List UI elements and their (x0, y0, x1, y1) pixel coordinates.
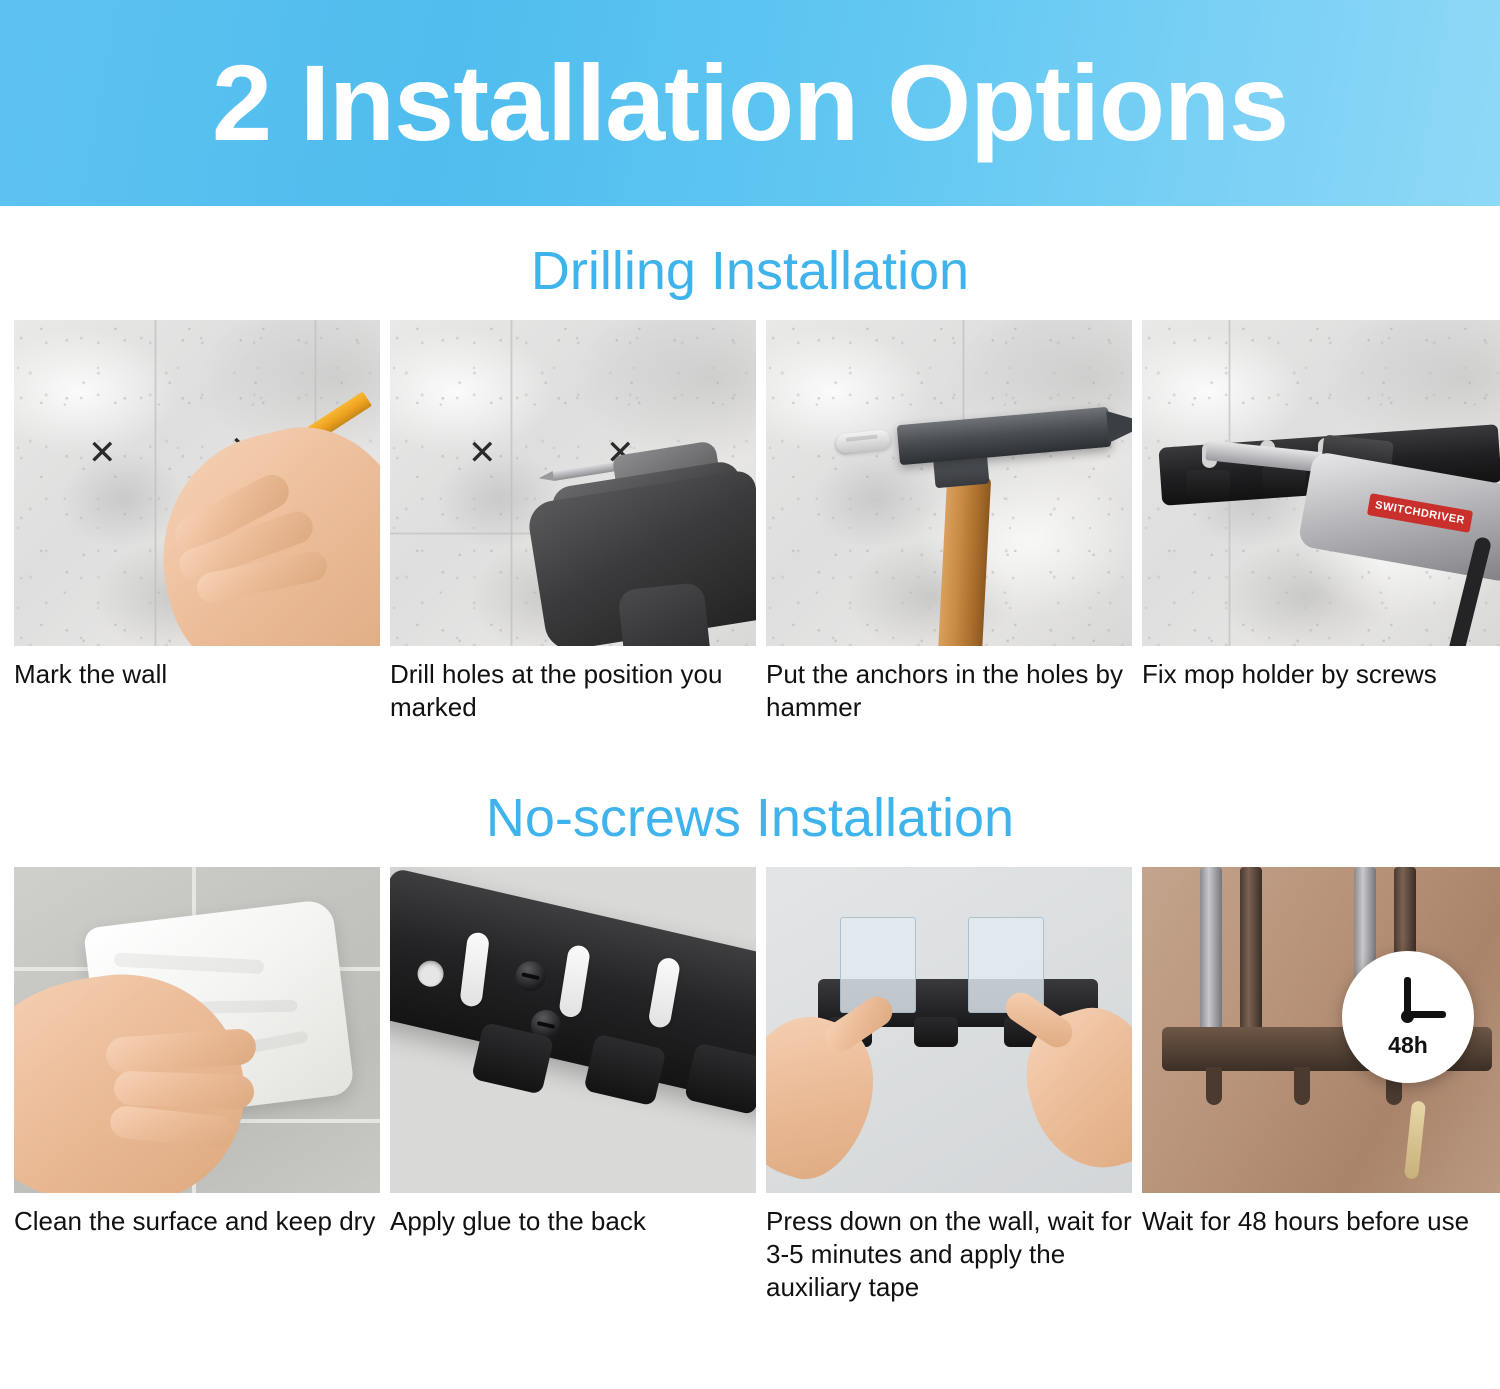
step-image-mark-the-wall: ✕ ✕ (14, 320, 380, 646)
step-card-mark-the-wall: ✕ ✕ Mark the wall (14, 320, 380, 725)
step-image-put-anchors (766, 320, 1132, 646)
step-card-clean-surface: Clean the surface and keep dry (14, 867, 380, 1305)
holder-clip (1186, 470, 1230, 500)
wall-seam (510, 320, 513, 646)
step-card-put-anchors: Put the anchors in the holes by hammer (766, 320, 1132, 725)
mop-holder-back (390, 867, 756, 1112)
cloth-fold (114, 952, 265, 974)
mop-handle (1240, 867, 1262, 1033)
holder-hook (1206, 1067, 1222, 1105)
mark-x-left: ✕ (88, 436, 117, 470)
step-caption-press-down: Press down on the wall, wait for 3-5 min… (766, 1193, 1132, 1305)
glue-strip (459, 931, 490, 1007)
step-caption-wait-48-hours: Wait for 48 hours before use (1142, 1193, 1500, 1238)
holder-hook (1294, 1067, 1310, 1105)
hammer-handle (937, 475, 991, 646)
step-caption-drill-holes: Drill holes at the position you marked (390, 646, 756, 725)
step-caption-apply-glue: Apply glue to the back (390, 1193, 756, 1238)
wall-seam (154, 320, 157, 646)
clock-center-dot (1401, 1010, 1414, 1023)
step-caption-clean-surface: Clean the surface and keep dry (14, 1193, 380, 1238)
step-caption-put-anchors: Put the anchors in the holes by hammer (766, 646, 1132, 725)
page-header-banner: 2 Installation Options (0, 0, 1500, 206)
section-no-screws-installation: No-screws Installation Clean the surface… (0, 725, 1500, 1305)
page-title: 2 Installation Options (212, 49, 1288, 157)
step-image-fix-mop-holder: SWITCHDRIVER (1142, 320, 1500, 646)
drill-handle (617, 582, 716, 646)
step-image-wait-48-hours: 48h (1142, 867, 1500, 1193)
step-image-apply-glue (390, 867, 756, 1193)
section-title-drilling: Drilling Installation (0, 206, 1500, 320)
clock-hours-label: 48h (1342, 1032, 1474, 1059)
clock-icon: 48h (1342, 951, 1474, 1083)
step-caption-fix-mop-holder: Fix mop holder by screws (1142, 646, 1500, 691)
step-card-press-down: Press down on the wall, wait for 3-5 min… (766, 867, 1132, 1305)
holder-clip (583, 1033, 666, 1106)
finger-shape (113, 1070, 254, 1109)
step-card-apply-glue: Apply glue to the back (390, 867, 756, 1305)
mark-x-left: ✕ (468, 436, 497, 470)
step-caption-mark-the-wall: Mark the wall (14, 646, 380, 691)
holder-clip (1262, 466, 1306, 496)
step-card-wait-48-hours: 48h Wait for 48 hours before use (1142, 867, 1500, 1305)
screw-icon (513, 958, 549, 994)
step-image-drill-holes: ✕ ✕ (390, 320, 756, 646)
holder-clip (914, 1017, 958, 1047)
glue-strip (558, 944, 591, 1019)
section-drilling-installation: Drilling Installation ✕ ✕ Mark the wall (0, 206, 1500, 725)
step-image-press-down (766, 867, 1132, 1193)
no-screws-steps-row: Clean the surface and keep dry Apply glu… (0, 867, 1500, 1305)
mop-handle (1200, 867, 1222, 1035)
holder-clip (684, 1042, 756, 1115)
glue-strip (647, 956, 681, 1029)
section-title-no-screws: No-screws Installation (0, 725, 1500, 867)
step-card-drill-holes: ✕ ✕ Drill holes at the position you mark… (390, 320, 756, 725)
step-image-clean-surface (14, 867, 380, 1193)
drilling-steps-row: ✕ ✕ Mark the wall ✕ ✕ (0, 320, 1500, 725)
mounting-hole (415, 958, 446, 989)
step-card-fix-mop-holder: SWITCHDRIVER Fix mop holder by screws (1142, 320, 1500, 725)
